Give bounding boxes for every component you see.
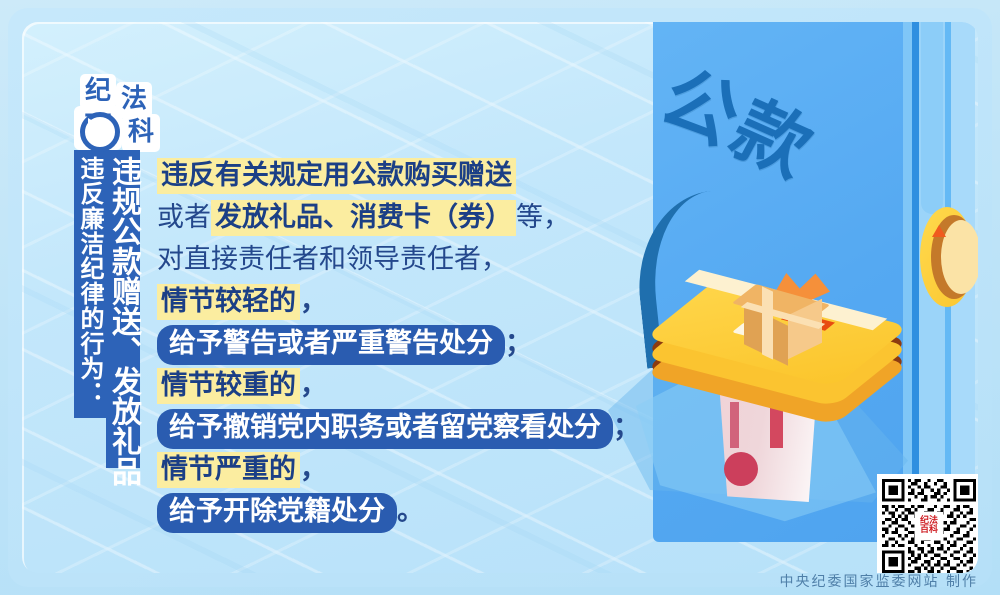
regulation-line: 或者发放礼品、消费卡（券）等， xyxy=(157,197,717,239)
text-segment-plain: 等， xyxy=(516,202,570,233)
text-segment-highlight: 情节较重的 xyxy=(157,368,300,404)
text-segment-punct: ， xyxy=(300,370,327,401)
text-segment-highlight: 情节严重的 xyxy=(157,452,300,488)
regulation-text-block: 违反有关规定用公款购买赠送或者发放礼品、消费卡（券）等，对直接责任者和领导责任者… xyxy=(157,155,717,533)
text-segment-plain: 或者 xyxy=(157,202,211,233)
text-segment-punct: ， xyxy=(300,454,327,485)
gift-box-icon xyxy=(738,277,838,367)
logo-char-ke: 科 xyxy=(122,114,160,152)
text-segment-plain: 对直接责任者和领导责任者， xyxy=(157,244,508,275)
regulation-line: 给予警告或者严重警告处分； xyxy=(157,323,717,365)
text-segment-punct: 。 xyxy=(397,496,424,527)
play-icon xyxy=(88,118,101,134)
logo-char-ji: 纪 xyxy=(80,74,116,110)
banner-topic-label: 违规公款赠送、发放礼品 xyxy=(107,156,140,486)
vertical-title-banner: 违反廉洁纪律的行为： 违规公款赠送、发放礼品 xyxy=(74,150,140,468)
poster-root: 公款 xyxy=(0,0,1000,595)
qr-logo-text: 纪法百科 xyxy=(920,517,938,535)
regulation-line: 给予开除党籍处分。 xyxy=(157,491,717,533)
text-segment-highlight: 发放礼品、消费卡（券） xyxy=(211,200,516,236)
regulation-line: 违反有关规定用公款购买赠送 xyxy=(157,155,717,197)
regulation-line: 对直接责任者和领导责任者， xyxy=(157,239,717,281)
text-segment-highlight: 情节较轻的 xyxy=(157,284,300,320)
text-segment-pill: 给予撤销党内职务或者留党察看处分 xyxy=(157,409,613,449)
poster-inner-frame: 公款 xyxy=(22,22,978,573)
text-segment-highlight: 违反有关规定用公款购买赠送 xyxy=(157,158,516,194)
text-segment-punct: ； xyxy=(505,328,532,359)
footer-credit: 中央纪委国家监委网站 制作 xyxy=(780,571,978,591)
regulation-line: 给予撤销党内职务或者留党察看处分； xyxy=(157,407,717,449)
gift-bag-dot xyxy=(724,452,758,486)
door-inner-tab xyxy=(921,22,943,214)
gift-bag-stripe-1 xyxy=(730,402,739,448)
brand-logo: 纪 法 百 科 xyxy=(74,74,174,156)
text-segment-pill: 给予开除党籍处分 xyxy=(157,493,397,533)
regulation-line: 情节较轻的， xyxy=(157,281,717,323)
text-segment-pill: 给予警告或者严重警告处分 xyxy=(157,325,505,365)
text-segment-punct: ， xyxy=(300,286,327,317)
door-knob-icon xyxy=(914,207,978,307)
banner-category-label: 违反廉洁纪律的行为： xyxy=(76,156,104,406)
regulation-line: 情节较重的， xyxy=(157,365,717,407)
qr-center-logo: 纪法百科 xyxy=(915,512,943,540)
text-segment-punct: ； xyxy=(613,412,640,443)
regulation-line: 情节严重的， xyxy=(157,449,717,491)
qr-code[interactable]: 纪法百科 xyxy=(877,474,978,573)
